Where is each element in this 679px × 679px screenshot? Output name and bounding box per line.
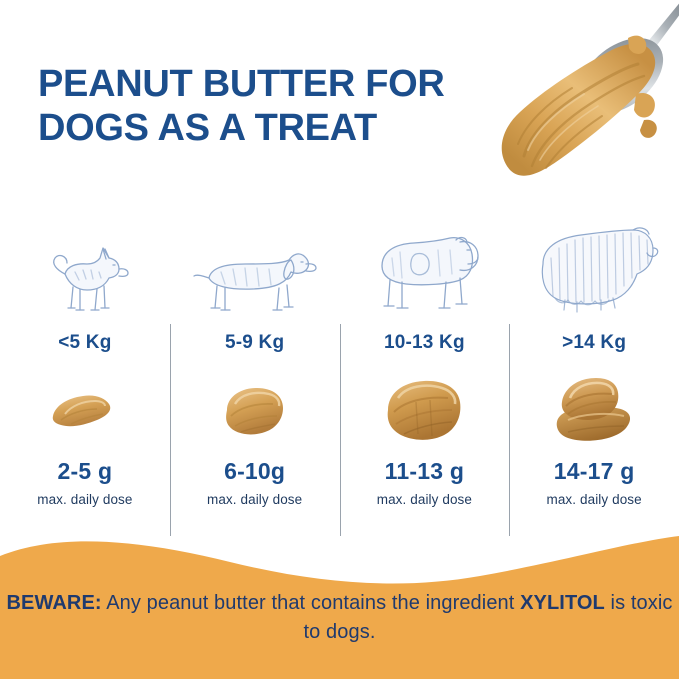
dose-label-3: 11-13 g: [385, 458, 464, 485]
xlarge-dog-sheepdog-icon: [514, 206, 674, 322]
peanut-butter-portion-xlarge-icon: [514, 364, 674, 456]
warning-banner: BEWARE: Any peanut butter that contains …: [0, 534, 679, 679]
large-dog-bulldog-icon: [344, 206, 504, 322]
dose-note-1: max. daily dose: [37, 492, 132, 507]
spoon-with-peanut-butter-image: [486, 0, 679, 190]
dose-note-2: max. daily dose: [207, 492, 302, 507]
dosage-column-3: 10-13 Kg: [340, 206, 510, 546]
dosage-column-2: 5-9 Kg 6-10g: [170, 206, 340, 546]
dosage-column-4: >14 Kg: [509, 206, 679, 546]
warning-emphasis: XYLITOL: [520, 592, 605, 614]
dose-label-1: 2-5 g: [58, 458, 113, 485]
peanut-butter-portion-large-icon: [344, 364, 504, 456]
infographic-root: PEANUT BUTTER FOR DOGS AS A TREAT: [0, 0, 679, 679]
weight-label-2: 5-9 Kg: [225, 322, 284, 364]
weight-label-3: 10-13 Kg: [384, 322, 465, 364]
dosage-columns: <5 Kg 2-5 g max. da: [0, 206, 679, 546]
weight-label-4: >14 Kg: [562, 322, 626, 364]
warning-text: BEWARE: Any peanut butter that contains …: [0, 589, 679, 647]
page-title: PEANUT BUTTER FOR DOGS AS A TREAT: [38, 62, 508, 150]
warning-lead: BEWARE:: [7, 592, 102, 614]
dose-note-4: max. daily dose: [546, 492, 641, 507]
peanut-butter-portion-medium-icon: [175, 364, 335, 456]
peanut-butter-portion-small-icon: [5, 364, 165, 456]
medium-dog-dachshund-icon: [175, 206, 335, 322]
small-dog-chihuahua-icon: [5, 206, 165, 322]
dose-note-3: max. daily dose: [377, 492, 472, 507]
dose-label-2: 6-10g: [224, 458, 285, 485]
weight-label-1: <5 Kg: [58, 322, 111, 364]
dosage-column-1: <5 Kg 2-5 g max. da: [0, 206, 170, 546]
dose-label-4: 14-17 g: [554, 458, 635, 485]
warning-text-part1: Any peanut butter that contains the ingr…: [102, 592, 520, 614]
